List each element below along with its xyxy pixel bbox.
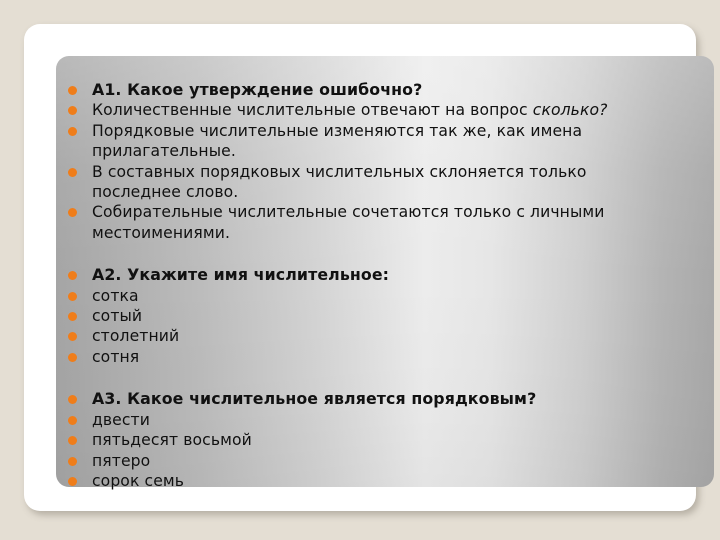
answer-option[interactable]: сорок семь	[64, 471, 664, 491]
answer-option[interactable]: сотня	[64, 347, 664, 367]
answer-option[interactable]: столетний	[64, 326, 664, 346]
bullet-dot-icon	[68, 127, 77, 136]
slide-canvas: A1. Какое утверждение ошибочно?Количеств…	[0, 0, 720, 540]
answer-option-label: сотый	[92, 307, 142, 325]
group-spacer	[64, 367, 664, 389]
answer-option-label: столетний	[92, 327, 179, 345]
answer-option-label: В составных порядковых числительных скло…	[92, 163, 587, 201]
bullet-dot-icon	[68, 457, 77, 466]
answer-option-label: сотка	[92, 287, 139, 305]
answer-option[interactable]: Собирательные числительные сочетаются то…	[64, 202, 664, 243]
answer-option[interactable]: сотый	[64, 306, 664, 326]
answer-option-label: сотня	[92, 348, 139, 366]
bullet-dot-icon	[68, 86, 77, 95]
question-heading-label: A2. Укажите имя числительное:	[92, 265, 389, 284]
answer-option[interactable]: Порядковые числительные изменяются так ж…	[64, 121, 664, 162]
answer-option[interactable]: пятеро	[64, 451, 664, 471]
question-heading-a2: A2. Укажите имя числительное:	[64, 265, 664, 285]
bullet-dot-icon	[68, 353, 77, 362]
group-spacer	[64, 243, 664, 265]
answer-option-label: пятьдесят восьмой	[92, 431, 252, 449]
bullet-dot-icon	[68, 395, 77, 404]
answer-option[interactable]: Количественные числительные отвечают на …	[64, 100, 664, 120]
bullet-dot-icon	[68, 271, 77, 280]
question-heading-a1: A1. Какое утверждение ошибочно?	[64, 80, 664, 100]
answer-option-label: пятеро	[92, 452, 150, 470]
bullet-dot-icon	[68, 106, 77, 115]
answer-option[interactable]: двести	[64, 410, 664, 430]
answer-option[interactable]: пятьдесят восьмой	[64, 430, 664, 450]
answer-option[interactable]: В составных порядковых числительных скло…	[64, 162, 664, 203]
bullet-dot-icon	[68, 292, 77, 301]
bullet-dot-icon	[68, 168, 77, 177]
bullet-dot-icon	[68, 208, 77, 217]
slide-card: A1. Какое утверждение ошибочно?Количеств…	[24, 24, 696, 511]
bullet-list: A1. Какое утверждение ошибочно?Количеств…	[64, 80, 664, 491]
question-heading-label: A1. Какое утверждение ошибочно?	[92, 80, 422, 99]
answer-option-label: двести	[92, 411, 150, 429]
answer-option-label: Собирательные числительные сочетаются то…	[92, 203, 604, 241]
answer-option[interactable]: сотка	[64, 286, 664, 306]
bullet-dot-icon	[68, 436, 77, 445]
question-heading-a3: A3. Какое числительное является порядков…	[64, 389, 664, 409]
bullet-dot-icon	[68, 477, 77, 486]
answer-option-emphasis: сколько?	[533, 101, 608, 119]
answer-option-label: Количественные числительные отвечают на …	[92, 101, 533, 119]
answer-option-label: сорок семь	[92, 472, 184, 490]
answer-option-label: Порядковые числительные изменяются так ж…	[92, 122, 582, 160]
bullet-dot-icon	[68, 312, 77, 321]
bullet-dot-icon	[68, 416, 77, 425]
bullet-dot-icon	[68, 332, 77, 341]
question-heading-label: A3. Какое числительное является порядков…	[92, 389, 536, 408]
